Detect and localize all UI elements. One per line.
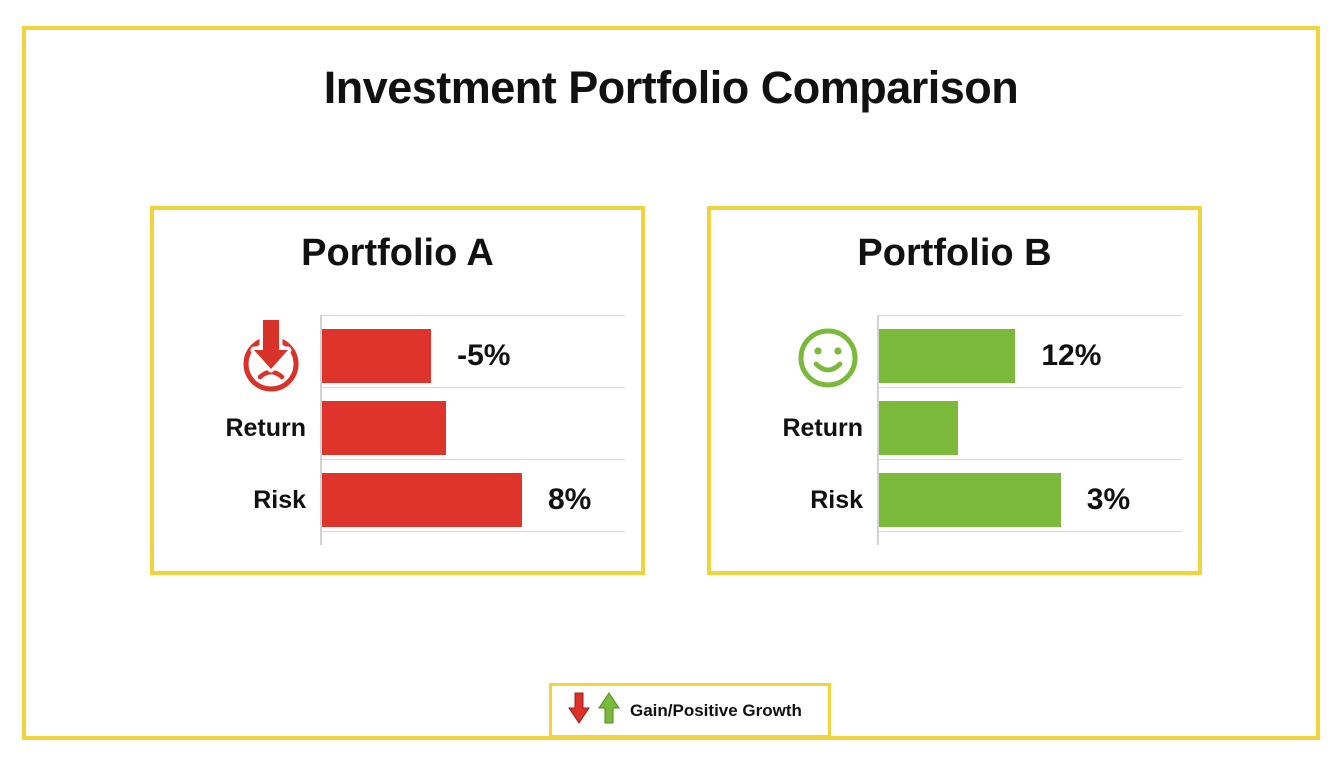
sad-face-down-arrow-icon [236,316,306,396]
gridline [879,531,1182,532]
portfolio-b-chart: Return Risk 12% [731,315,1182,545]
portfolio-b-row-1-category: Return [782,397,863,459]
legend-box: Gain/Positive Growth [549,683,831,738]
portfolio-a-chart: Return Risk -5% [174,315,625,545]
table-row [322,397,625,459]
gridline [322,315,625,316]
portfolio-a-value-0: -5% [457,339,510,373]
portfolio-a-row-2-category: Risk [253,469,306,531]
slide-frame: Investment Portfolio Comparison Portfoli… [22,26,1320,740]
portfolio-b-bar-1 [879,401,958,455]
gridline [322,531,625,532]
gridline [322,387,625,388]
legend-arrows [568,691,620,730]
portfolio-a-bar-0 [322,329,431,383]
portfolio-a-bar-1 [322,401,446,455]
table-row: -5% [322,325,625,387]
portfolio-a-category-column: Return Risk [174,315,316,545]
arrow-up-icon [598,691,620,730]
gridline [322,459,625,460]
happy-face-icon [793,316,863,396]
gridline [879,315,1182,316]
gridline [879,459,1182,460]
portfolio-a-row-2-label: Risk [253,486,306,515]
portfolio-a-panel: Portfolio A [150,206,645,575]
portfolio-a-row-1-category: Return [225,397,306,459]
table-row: 3% [879,469,1182,531]
portfolio-b-bar-2 [879,473,1061,527]
legend-label: Gain/Positive Growth [630,701,802,721]
portfolio-b-value-2: 3% [1087,483,1130,517]
portfolio-a-value-2: 8% [548,483,591,517]
portfolio-b-row-2-label: Risk [810,486,863,515]
portfolio-b-title: Portfolio B [711,232,1198,275]
portfolio-b-plot-area: 12% 3% [877,315,1182,545]
portfolio-b-value-0: 12% [1041,339,1101,373]
portfolio-b-category-column: Return Risk [731,315,873,545]
portfolio-a-title: Portfolio A [154,232,641,275]
portfolio-a-bar-2 [322,473,522,527]
portfolio-b-row-2-category: Risk [810,469,863,531]
portfolio-b-row-0-category [793,325,863,387]
portfolio-a-row-1-label: Return [225,414,306,443]
portfolio-b-row-1-label: Return [782,414,863,443]
gridline [879,387,1182,388]
page-title: Investment Portfolio Comparison [26,62,1316,114]
portfolio-a-plot-area: -5% 8% [320,315,625,545]
arrow-down-icon [568,691,590,730]
table-row: 8% [322,469,625,531]
portfolio-b-panel: Portfolio B Return [707,206,1202,575]
portfolio-b-bar-0 [879,329,1015,383]
table-row [879,397,1182,459]
portfolio-a-row-0-category [236,325,306,387]
table-row: 12% [879,325,1182,387]
